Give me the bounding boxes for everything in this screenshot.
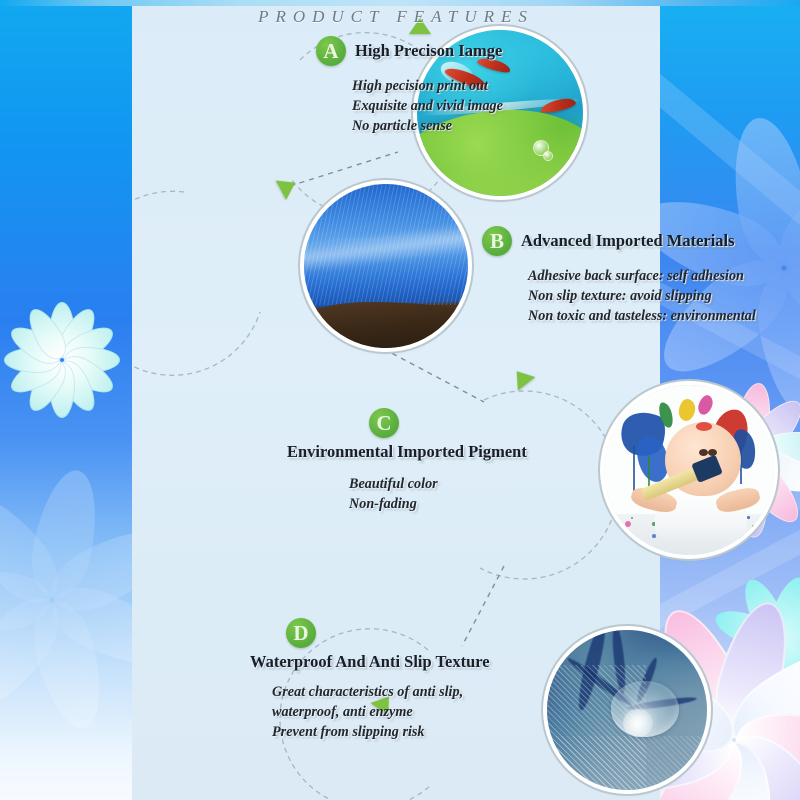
paint-speck (752, 525, 755, 528)
paint-speck (625, 521, 631, 527)
feature-title-a: High Precison Iamge (355, 41, 502, 61)
left-decorative-band (0, 0, 132, 800)
feature-body-c: Beautiful color Non-fading (349, 474, 527, 514)
water-droplet-photo (547, 630, 707, 790)
badge-d: D (286, 618, 316, 648)
feature-title-d: Waterproof And Anti Slip Texture (250, 652, 490, 672)
feature-line: Beautiful color (349, 474, 527, 494)
feature-section-a: A High Precison Iamge High pecision prin… (316, 36, 503, 136)
feature-line: Non-fading (349, 494, 527, 514)
paint-speck (749, 537, 753, 541)
page-title: PRODUCT FEATURES (132, 7, 660, 27)
badge-b: B (482, 226, 512, 256)
feature-line: Non toxic and tasteless: environmental (528, 306, 756, 326)
badge-a: A (316, 36, 346, 66)
feature-body-d: Great characteristics of anti slip, wate… (272, 682, 490, 742)
badge-c: C (369, 408, 399, 438)
paint-speck (637, 541, 639, 543)
feature-line: waterproof, anti enzyme (272, 702, 490, 722)
product-features-infographic: PRODUCT FEATURES (0, 0, 800, 800)
feature-title-b: Advanced Imported Materials (521, 231, 735, 251)
feature-line: Exquisite and vivid image (352, 96, 503, 116)
paint-speck (620, 542, 626, 548)
feature-line: Adhesive back surface: self adhesion (528, 266, 756, 286)
connector-a-to-b (290, 152, 398, 186)
paint-speck (631, 517, 633, 519)
feature-body-b: Adhesive back surface: self adhesion Non… (528, 266, 756, 326)
feature-title-c: Environmental Imported Pigment (287, 442, 527, 462)
feature-line: Non slip texture: avoid slipping (528, 286, 756, 306)
top-accent-bar (0, 0, 800, 6)
feature-line: High pecision print out (352, 76, 503, 96)
feature-section-d: D Waterproof And Anti Slip Texture Great… (250, 618, 490, 742)
painting-baby-photo (604, 385, 774, 555)
paint-speck (753, 543, 760, 550)
feature-line: No particle sense (352, 116, 503, 136)
paint-speck (652, 534, 656, 538)
paint-speck (757, 519, 761, 523)
feature-line: Prevent from slipping risk (272, 722, 490, 742)
blue-fabric-photo (304, 184, 468, 348)
feature-line: Great characteristics of anti slip, (272, 682, 490, 702)
feature-body-a: High pecision print out Exquisite and vi… (352, 76, 503, 136)
paint-speck (747, 516, 750, 519)
feature-section-c: C Environmental Imported Pigment Beautif… (287, 408, 527, 514)
paint-speck (629, 543, 634, 548)
content-panel: PRODUCT FEATURES (132, 0, 660, 800)
paint-speck (766, 515, 773, 522)
paint-speck (615, 536, 618, 539)
feature-section-b: B Advanced Imported Materials Adhesive b… (482, 226, 756, 326)
